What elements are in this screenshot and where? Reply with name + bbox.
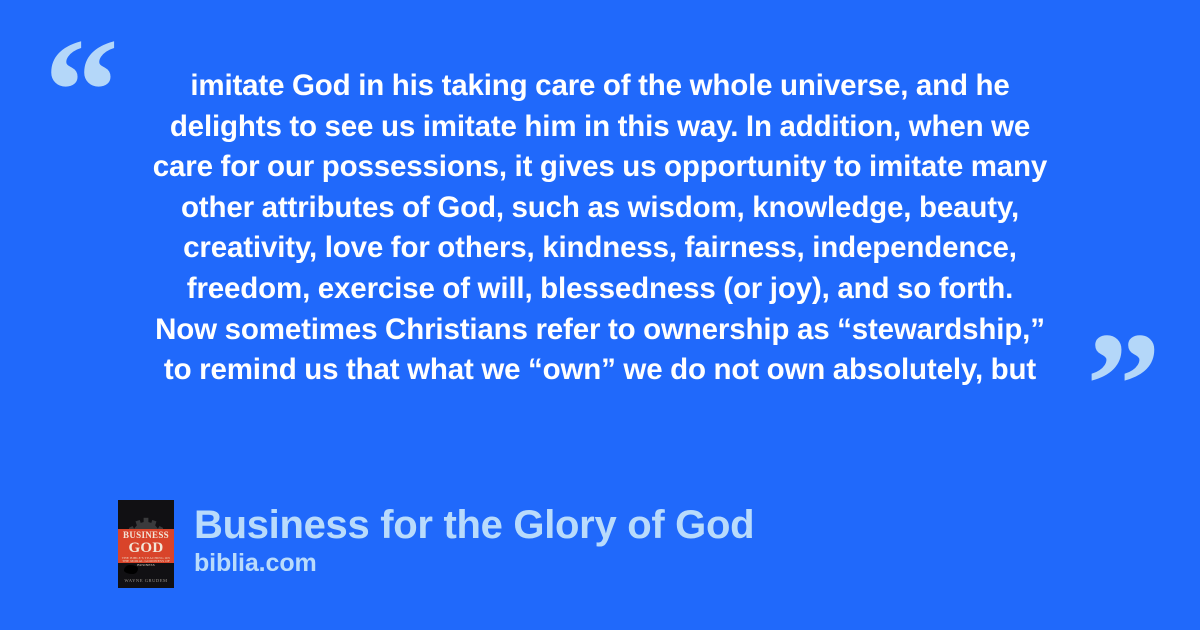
footer: BUSINESS GOD THE BIBLE'S TEACHING ON THE… <box>118 500 754 588</box>
site-url: biblia.com <box>194 549 754 577</box>
cover-author-name: WAYNE GRUDEM <box>118 578 174 583</box>
book-title: Business for the Glory of God <box>194 503 754 547</box>
quote-text: imitate God in his taking care of the wh… <box>100 66 1100 391</box>
quote-block: imitate God in his taking care of the wh… <box>100 66 1100 391</box>
closing-quote-mark: ” <box>1086 310 1160 460</box>
footer-text-group: Business for the Glory of God biblia.com <box>194 500 754 577</box>
quote-card: “ imitate God in his taking care of the … <box>0 0 1200 630</box>
cover-word-god: GOD <box>118 541 174 556</box>
cover-decorative-blob <box>124 565 138 574</box>
book-cover-thumbnail: BUSINESS GOD THE BIBLE'S TEACHING ON THE… <box>118 500 174 588</box>
cover-word-business: BUSINESS <box>118 531 174 540</box>
